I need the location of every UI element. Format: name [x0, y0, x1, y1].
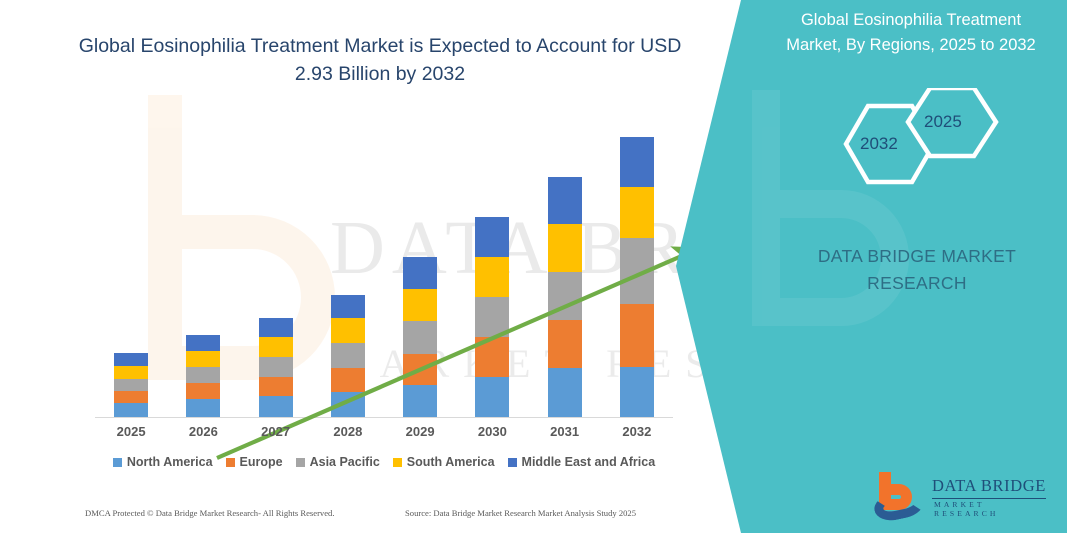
- logo-primary-text: DATA BRIDGE: [932, 476, 1046, 499]
- x-axis-label: 2028: [312, 424, 384, 439]
- hexagon-start-year-label: 2025: [924, 112, 962, 132]
- x-axis-label: 2032: [601, 424, 673, 439]
- legend-swatch-icon: [393, 458, 402, 467]
- year-hexagon-group: 2032 2025: [816, 88, 1026, 200]
- bar-segment[interactable]: [259, 396, 293, 417]
- bar-segment[interactable]: [114, 366, 148, 379]
- side-panel-brand: DATA BRIDGE MARKET RESEARCH: [792, 243, 1042, 297]
- logo-secondary-text: MARKET RESEARCH: [934, 500, 1052, 518]
- bar-segment[interactable]: [114, 391, 148, 403]
- legend-item[interactable]: Asia Pacific: [296, 455, 380, 469]
- bar-segment[interactable]: [259, 377, 293, 396]
- stacked-bar[interactable]: [548, 177, 582, 417]
- bar-segment[interactable]: [114, 379, 148, 391]
- bar-segment[interactable]: [331, 392, 365, 417]
- bar-segment[interactable]: [186, 383, 220, 399]
- hexagon-end-year-label: 2032: [860, 134, 898, 154]
- legend-label: North America: [127, 455, 213, 469]
- bar-segment[interactable]: [620, 304, 654, 367]
- bar-segment[interactable]: [475, 377, 509, 417]
- stacked-bar[interactable]: [475, 217, 509, 417]
- x-axis-label: 2029: [384, 424, 456, 439]
- x-axis-label: 2030: [456, 424, 528, 439]
- bar-segment[interactable]: [403, 354, 437, 385]
- bar-segment[interactable]: [403, 385, 437, 417]
- legend-label: Europe: [240, 455, 283, 469]
- legend-swatch-icon: [113, 458, 122, 467]
- side-panel-title: Global Eosinophilia Treatment Market, By…: [772, 8, 1050, 58]
- plot-area: [95, 118, 673, 418]
- bar-slot: [384, 118, 456, 417]
- bar-segment[interactable]: [403, 257, 437, 289]
- bar-segment[interactable]: [186, 367, 220, 383]
- bar-slot: [312, 118, 384, 417]
- side-panel: Global Eosinophilia Treatment Market, By…: [676, 0, 1067, 533]
- bar-segment[interactable]: [331, 368, 365, 392]
- legend-swatch-icon: [296, 458, 305, 467]
- x-axis-label: 2031: [529, 424, 601, 439]
- bar-segment[interactable]: [475, 337, 509, 377]
- bar-segment[interactable]: [186, 335, 220, 351]
- legend-label: Middle East and Africa: [522, 455, 656, 469]
- stacked-bar[interactable]: [259, 318, 293, 417]
- bar-slot: [240, 118, 312, 417]
- legend-label: Asia Pacific: [310, 455, 380, 469]
- footer-copyright: DMCA Protected © Data Bridge Market Rese…: [85, 508, 405, 518]
- chart-panel: DATA BRIDGE MARKET RESEARCH Global Eosin…: [0, 0, 760, 533]
- bar-segment[interactable]: [475, 257, 509, 297]
- x-axis-label: 2026: [167, 424, 239, 439]
- footer-source: Source: Data Bridge Market Research Mark…: [405, 508, 636, 518]
- bar-segment[interactable]: [548, 320, 582, 368]
- stacked-bar[interactable]: [114, 353, 148, 417]
- bar-segment[interactable]: [331, 318, 365, 343]
- bar-slot: [529, 118, 601, 417]
- bar-segment[interactable]: [620, 238, 654, 304]
- legend-label: South America: [407, 455, 495, 469]
- footer: DMCA Protected © Data Bridge Market Rese…: [85, 508, 685, 518]
- legend-item[interactable]: North America: [113, 455, 213, 469]
- bar-segment[interactable]: [620, 367, 654, 417]
- bar-slot: [456, 118, 528, 417]
- bar-segment[interactable]: [186, 351, 220, 367]
- company-logo: DATA BRIDGE MARKET RESEARCH: [872, 470, 1052, 522]
- legend-swatch-icon: [226, 458, 235, 467]
- bar-slot: [95, 118, 167, 417]
- chart-title: Global Eosinophilia Treatment Market is …: [60, 32, 700, 88]
- bar-segment[interactable]: [548, 272, 582, 320]
- stacked-bar-group: [95, 118, 673, 417]
- stacked-bar[interactable]: [331, 295, 365, 417]
- legend-item[interactable]: South America: [393, 455, 495, 469]
- bar-segment[interactable]: [259, 318, 293, 337]
- chart-legend: North AmericaEuropeAsia PacificSouth Ame…: [95, 455, 673, 469]
- bar-slot: [601, 118, 673, 417]
- stacked-bar[interactable]: [403, 257, 437, 417]
- x-axis-labels: 20252026202720282029203020312032: [95, 424, 673, 439]
- bar-segment[interactable]: [548, 368, 582, 417]
- bar-segment[interactable]: [475, 217, 509, 257]
- x-axis-label: 2027: [240, 424, 312, 439]
- bar-segment[interactable]: [620, 137, 654, 187]
- bar-slot: [167, 118, 239, 417]
- bar-segment[interactable]: [186, 399, 220, 417]
- bar-segment[interactable]: [114, 403, 148, 417]
- legend-item[interactable]: Middle East and Africa: [508, 455, 656, 469]
- bar-segment[interactable]: [114, 353, 148, 366]
- infographic-canvas: DATA BRIDGE MARKET RESEARCH Global Eosin…: [0, 0, 1067, 533]
- bar-segment[interactable]: [331, 295, 365, 318]
- stacked-bar[interactable]: [186, 335, 220, 417]
- x-axis-line: [95, 417, 673, 418]
- bar-segment[interactable]: [259, 357, 293, 377]
- bar-segment[interactable]: [331, 343, 365, 368]
- bar-segment[interactable]: [548, 224, 582, 272]
- stacked-bar[interactable]: [620, 137, 654, 417]
- bar-segment[interactable]: [620, 187, 654, 238]
- legend-item[interactable]: Europe: [226, 455, 283, 469]
- legend-swatch-icon: [508, 458, 517, 467]
- bar-segment[interactable]: [403, 289, 437, 321]
- bar-segment[interactable]: [403, 321, 437, 354]
- bar-segment[interactable]: [475, 297, 509, 337]
- x-axis-label: 2025: [95, 424, 167, 439]
- bar-segment[interactable]: [548, 177, 582, 224]
- bar-segment[interactable]: [259, 337, 293, 357]
